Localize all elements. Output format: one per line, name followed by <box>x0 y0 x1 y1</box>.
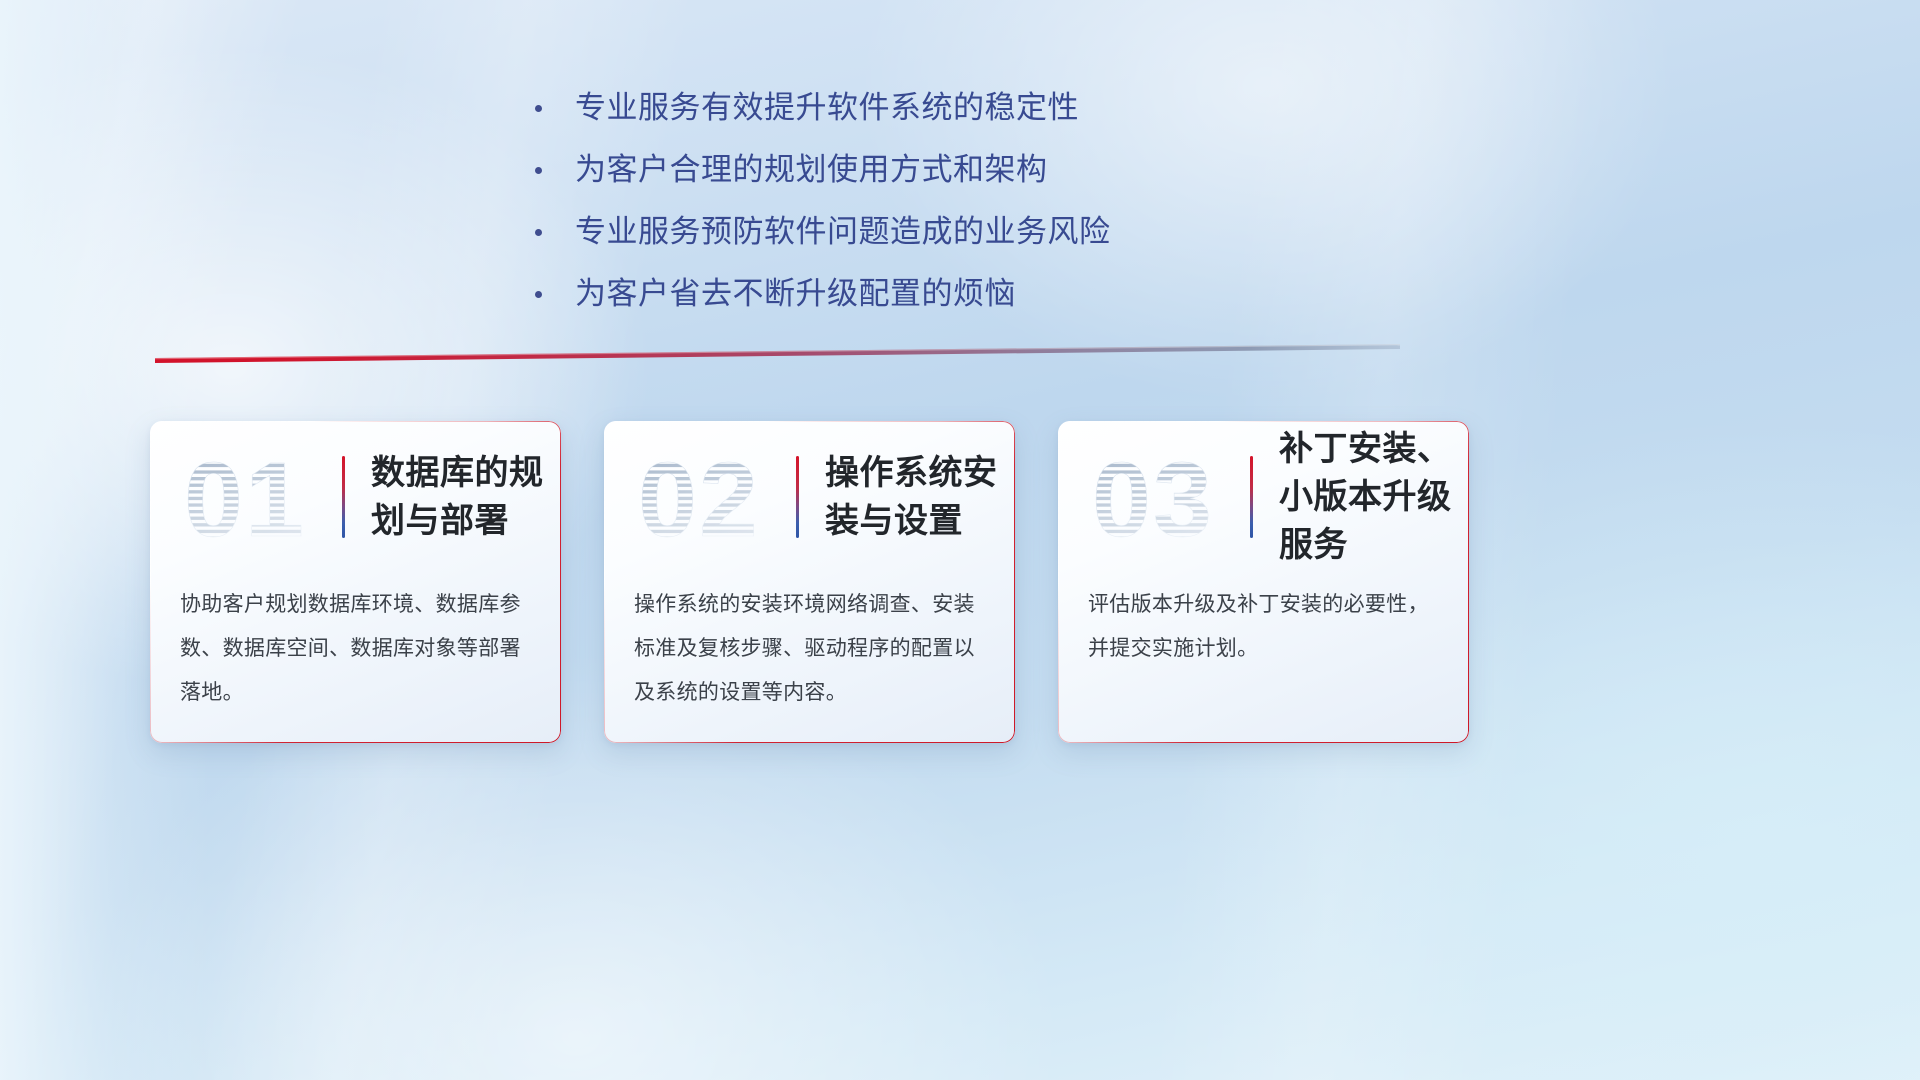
card-header: 01 01 数据库的规划与部署 <box>150 421 561 573</box>
bullet-dot-icon <box>535 291 542 298</box>
card-description: 协助客户规划数据库环境、数据库参数、数据库空间、数据库对象等部署落地。 <box>180 583 533 715</box>
list-item: 为客户省去不断升级配置的烦恼 <box>535 274 1295 314</box>
divider-icon <box>155 344 1400 366</box>
bullet-list: 专业服务有效提升软件系统的稳定性 为客户合理的规划使用方式和架构 专业服务预防软… <box>535 88 1295 336</box>
card-header: 03 03 补丁安装、小版本升级服务 <box>1058 421 1469 573</box>
list-item: 为客户合理的规划使用方式和架构 <box>535 150 1295 190</box>
bullet-dot-icon <box>535 229 542 236</box>
card-number-graphic: 02 02 <box>634 444 786 550</box>
bullet-dot-icon <box>535 167 542 174</box>
svg-text:01: 01 <box>184 444 306 550</box>
card-header: 02 02 操作系统安装与设置 <box>604 421 1015 573</box>
card-description: 评估版本升级及补丁安装的必要性，并提交实施计划。 <box>1088 583 1441 671</box>
card-row: 01 01 数据库的规划与部署 协助客户规划数据库环境、数据库参数、数据库空间、… <box>150 421 1470 743</box>
svg-text:02: 02 <box>638 444 760 550</box>
striped-number-icon: 02 02 <box>634 444 786 550</box>
striped-number-icon: 01 01 <box>180 444 332 550</box>
list-item: 专业服务预防软件问题造成的业务风险 <box>535 212 1295 252</box>
bullet-text: 为客户合理的规划使用方式和架构 <box>575 150 1048 190</box>
card-accent-bar <box>1250 456 1253 538</box>
service-card[interactable]: 02 02 操作系统安装与设置 操作系统的安装环境网络调查、安装标准及复核步骤、… <box>604 421 1015 743</box>
list-item: 专业服务有效提升软件系统的稳定性 <box>535 88 1295 128</box>
bullet-text: 为客户省去不断升级配置的烦恼 <box>575 274 1016 314</box>
card-number-graphic: 01 01 <box>180 444 332 550</box>
service-card[interactable]: 01 01 数据库的规划与部署 协助客户规划数据库环境、数据库参数、数据库空间、… <box>150 421 561 743</box>
card-accent-bar <box>796 456 799 538</box>
striped-number-icon: 03 03 <box>1088 444 1240 550</box>
svg-text:03: 03 <box>1092 444 1214 550</box>
bullet-text: 专业服务预防软件问题造成的业务风险 <box>575 212 1111 252</box>
bullet-text: 专业服务有效提升软件系统的稳定性 <box>575 88 1079 128</box>
slide-canvas: 专业服务有效提升软件系统的稳定性 为客户合理的规划使用方式和架构 专业服务预防软… <box>0 0 1920 1080</box>
service-card[interactable]: 03 03 补丁安装、小版本升级服务 评估版本升级及补丁安装的必要性，并提交实施… <box>1058 421 1469 743</box>
bullet-dot-icon <box>535 105 542 112</box>
card-title: 数据库的规划与部署 <box>371 449 561 545</box>
card-number-graphic: 03 03 <box>1088 444 1240 550</box>
card-description: 操作系统的安装环境网络调查、安装标准及复核步骤、驱动程序的配置以及系统的设置等内… <box>634 583 987 715</box>
card-title: 操作系统安装与设置 <box>825 449 1015 545</box>
card-accent-bar <box>342 456 345 538</box>
card-title: 补丁安装、小版本升级服务 <box>1279 425 1469 569</box>
section-divider <box>155 344 1400 366</box>
